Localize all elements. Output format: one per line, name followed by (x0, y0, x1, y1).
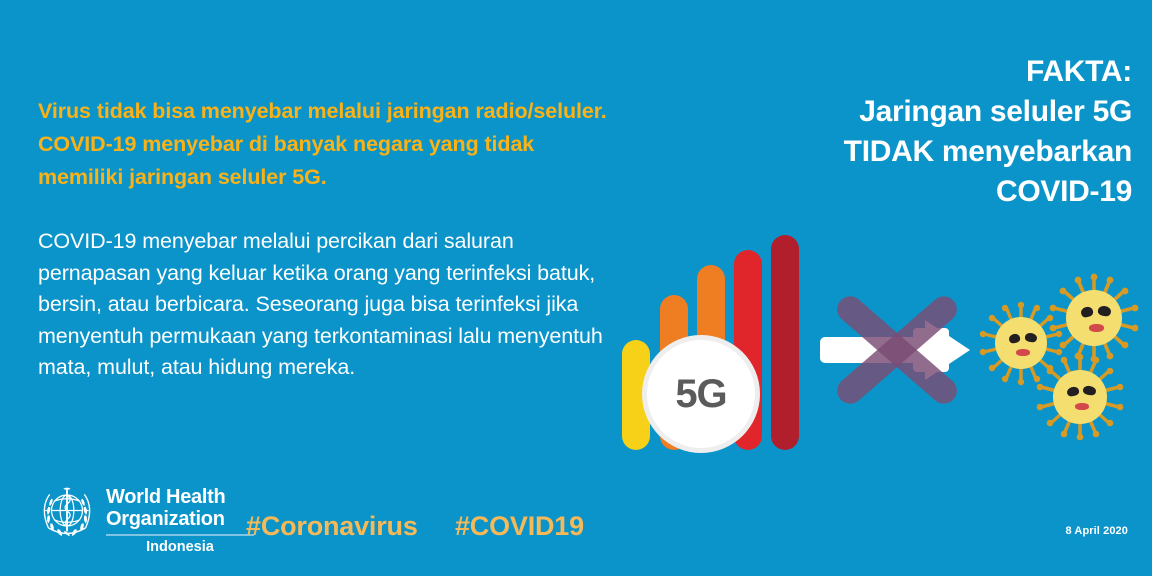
headline-line-2: Jaringan seluler 5G (712, 92, 1132, 132)
virus-body (1066, 290, 1122, 346)
hashtags: #Coronavirus #COVID19 (246, 511, 584, 542)
virus-particle-3 (1035, 352, 1125, 442)
fact-highlight-text: Virus tidak bisa menyebar melalui jaring… (38, 95, 608, 194)
signal-bar-5 (771, 235, 799, 450)
who-line-1: World Health (106, 486, 254, 508)
page-title: FAKTA: Jaringan seluler 5G TIDAK menyeba… (712, 52, 1132, 212)
virus-mouth (1016, 349, 1030, 356)
who-logo: World Health Organization Indonesia (36, 482, 254, 555)
five-g-badge: 5G (647, 340, 755, 448)
poster-canvas: Virus tidak bisa menyebar melalui jaring… (0, 0, 1152, 576)
signal-strength-illustration: 5G (600, 230, 820, 460)
who-logo-text: World Health Organization Indonesia (106, 482, 254, 555)
who-emblem-icon (36, 482, 98, 544)
virus-particle-2 (1048, 272, 1140, 364)
blocked-transmission-illustration (815, 275, 980, 425)
who-line-2: Organization (106, 508, 254, 530)
signal-bar-1 (622, 340, 650, 450)
date-stamp: 8 April 2020 (1065, 525, 1128, 537)
headline-line-3: TIDAK menyebarkan (712, 132, 1132, 172)
virus-mouth (1089, 324, 1104, 332)
who-divider (106, 534, 254, 536)
headline-line-1: FAKTA: (712, 52, 1132, 92)
who-country-label: Indonesia (106, 539, 254, 555)
headline-line-4: COVID-19 (712, 172, 1132, 212)
explanation-text: COVID-19 menyebar melalui percikan dari … (38, 226, 613, 384)
hashtag-covid19: #COVID19 (455, 511, 584, 541)
five-g-label: 5G (675, 374, 726, 414)
virus-body (1053, 370, 1107, 424)
cross-out-icon (815, 275, 980, 425)
hashtag-coronavirus: #Coronavirus (246, 511, 418, 541)
virus-mouth (1075, 403, 1089, 410)
